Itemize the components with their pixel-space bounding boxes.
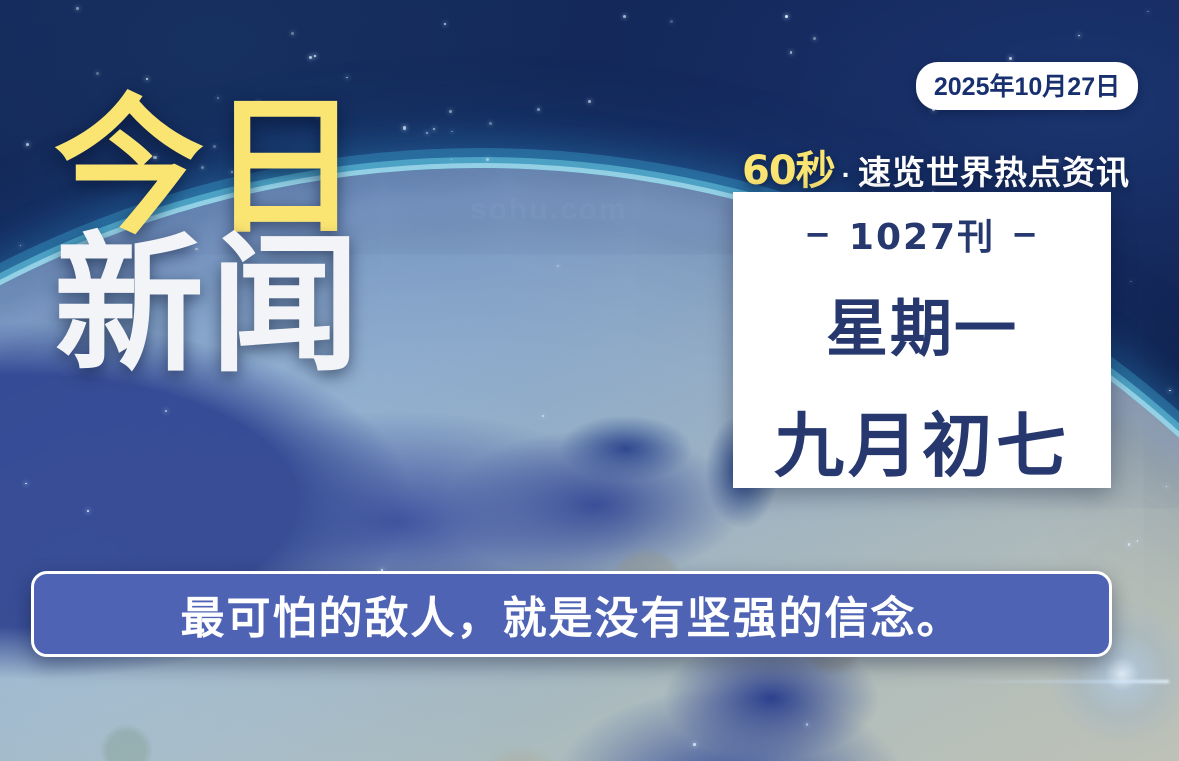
tagline-description: 速览世界热点资讯	[858, 146, 1130, 194]
issue-number-row: − 1027刊 −	[804, 208, 1040, 260]
page-title: 今日 新闻	[54, 96, 366, 378]
tagline: 60秒 · 速览世界热点资讯	[742, 138, 1130, 196]
issue-info-card: − 1027刊 − 星期一 九月初七	[733, 192, 1111, 488]
lunar-date-label: 九月初七	[774, 390, 1070, 491]
quote-text: 最可怕的敌人，就是没有坚强的信念。	[181, 582, 963, 646]
issue-dash-right-icon: −	[1011, 215, 1040, 253]
issue-dash-left-icon: −	[804, 215, 833, 253]
tagline-seconds: 60秒	[742, 138, 835, 196]
poster-canvas: sohu.com 今日 新闻 2025年10月27日 60秒 · 速览世界热点资…	[0, 0, 1179, 761]
quote-banner: 最可怕的敌人，就是没有坚强的信念。	[31, 571, 1112, 657]
date-badge: 2025年10月27日	[916, 62, 1138, 110]
tagline-separator: ·	[840, 159, 853, 191]
issue-number: 1027刊	[849, 208, 995, 260]
page-title-line2: 新闻	[54, 234, 366, 378]
weekday-label: 星期一	[826, 278, 1018, 368]
